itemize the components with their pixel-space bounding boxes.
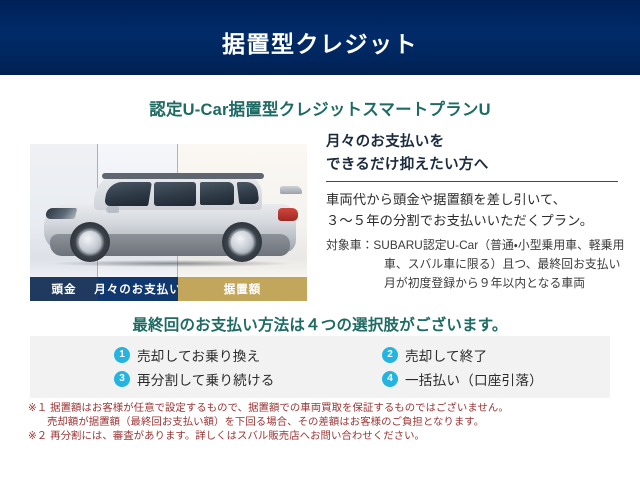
segment-label-downpayment: 頭金	[30, 277, 98, 301]
option-number-badge-3: 3	[114, 371, 130, 387]
final-payment-headline: 最終回のお支払い方法は４つの選択肢がございます。	[0, 313, 640, 335]
footnotes: ※１ 据置額はお客様が任意で設定するもので、据置額での車両買取を保証するものでは…	[28, 402, 608, 443]
footnote-line-2: 売却額が据置額（最終回お支払い額）を下回る場合、その差額はお客様のご負担となりま…	[28, 416, 608, 430]
payment-segment-bar: 頭金 月々のお支払い 据置額	[30, 277, 307, 301]
plan-description: 月々のお支払いを できるだけ抑えたい方へ 車両代から頭金や据置額を差し引いて、 …	[326, 131, 626, 293]
segment-label-residual: 据置額	[178, 277, 307, 301]
car-taillight	[278, 208, 298, 221]
vehicle-photo	[30, 144, 307, 277]
plan-heading-line2: できるだけ抑えたい方へ	[326, 154, 626, 177]
plan-body-line1: 車両代から頭金や据置額を差し引いて、	[326, 189, 626, 210]
car-headlight	[45, 208, 78, 219]
option-item-4[interactable]: 4 一括払い（口座引落）	[382, 367, 610, 391]
plan-subtitle: 認定U-Car据置型クレジットスマートプランU	[0, 96, 640, 120]
car-rear-window	[200, 182, 234, 205]
heading-divider	[326, 181, 618, 182]
option-label-3: 再分割して乗り続ける	[137, 369, 275, 389]
car-side-mirror	[106, 206, 119, 213]
car-spoiler	[280, 186, 302, 194]
car-front-window	[154, 182, 196, 206]
option-label-4: 一括払い（口座引落）	[405, 369, 543, 389]
vehicle-payment-diagram: 頭金 月々のお支払い 据置額	[30, 144, 307, 301]
plan-body-line2: ３〜５年の分割でお支払いいただくプラン。	[326, 210, 626, 231]
option-item-1[interactable]: 1 売却してお乗り換え	[114, 343, 382, 367]
plan-heading: 月々のお支払いを できるだけ抑えたい方へ	[326, 131, 626, 177]
option-number-badge-1: 1	[114, 347, 130, 363]
credit-plan-slide: 据置型クレジット 認定U-Car据置型クレジットスマートプランU	[0, 0, 640, 480]
car-rear-wheel	[222, 222, 262, 262]
option-label-2: 売却して終了	[405, 345, 487, 365]
option-item-3[interactable]: 3 再分割して乗り続ける	[114, 367, 382, 391]
eligible-vehicle-note: 対象車：SUBARU認定U-Car（普通・小型乗用車、軽乗用車、スバル車に限る）…	[326, 236, 626, 293]
car-roof-rails	[102, 173, 264, 179]
option-number-badge-2: 2	[382, 347, 398, 363]
header-banner: 据置型クレジット	[0, 0, 640, 75]
final-payment-options-panel: 1 売却してお乗り換え 2 売却して終了 3 再分割して乗り続ける 4 一括払い…	[30, 336, 610, 398]
option-item-2[interactable]: 2 売却して終了	[382, 343, 610, 367]
car-front-wheel	[70, 222, 110, 262]
footnote-line-3: ※２ 再分割には、審査があります。詳しくはスバル販売店へお問い合わせください。	[28, 430, 608, 444]
page-title: 据置型クレジット	[0, 25, 640, 59]
segment-label-monthly: 月々のお支払い	[98, 277, 178, 301]
footnote-line-1: ※１ 据置額はお客様が任意で設定するもので、据置額での車両買取を保証するものでは…	[28, 402, 608, 416]
plan-heading-line1: 月々のお支払いを	[326, 131, 626, 154]
car-illustration	[36, 164, 304, 272]
options-grid: 1 売却してお乗り換え 2 売却して終了 3 再分割して乗り続ける 4 一括払い…	[114, 343, 610, 391]
option-number-badge-4: 4	[382, 371, 398, 387]
option-label-1: 売却してお乗り換え	[137, 345, 260, 365]
car-windshield	[104, 182, 152, 206]
